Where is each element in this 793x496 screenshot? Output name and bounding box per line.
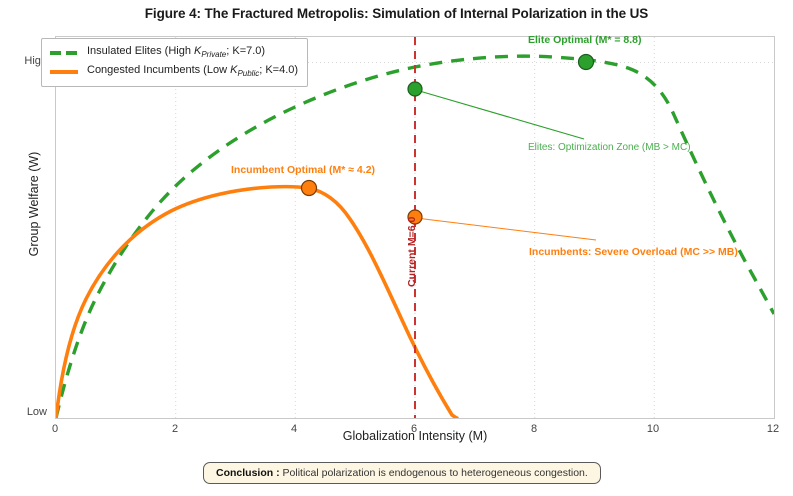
- figure-container: Figure 4: The Fractured Metropolis: Simu…: [0, 0, 793, 496]
- marker-elite-at-current-m: [408, 82, 422, 96]
- legend-swatch-dashed-green-icon: [50, 46, 78, 60]
- conclusion-text: Political polarization is endogenous to …: [283, 467, 588, 479]
- legend-label-insulated-elites: Insulated Elites (High KPrivate; K=7.0): [87, 45, 265, 59]
- legend: Insulated Elites (High KPrivate; K=7.0) …: [41, 38, 308, 87]
- legend-swatch-solid-orange-icon: [50, 65, 78, 79]
- legend-item-insulated-elites[interactable]: Insulated Elites (High KPrivate; K=7.0): [50, 44, 298, 61]
- annotation-incumbent-optimal: Incumbent Optimal (M* ≈ 4.2): [231, 164, 375, 176]
- x-axis-label: Globalization Intensity (M): [55, 429, 775, 443]
- annotation-current-m: Current M=6.0: [406, 217, 418, 287]
- conclusion-label: Conclusion :: [216, 467, 280, 479]
- legend-item-congested-incumbents[interactable]: Congested Incumbents (Low KPublic; K=4.0…: [50, 63, 298, 80]
- conclusion-box: Conclusion : Political polarization is e…: [203, 462, 601, 484]
- annotation-elite-optimal: Elite Optimal (M* = 8.8): [528, 34, 642, 46]
- ytick-low: Low: [3, 406, 47, 418]
- figure-title: Figure 4: The Fractured Metropolis: Simu…: [0, 6, 793, 21]
- marker-elite-optimal: [579, 55, 594, 70]
- leader-line-elite-zone: [416, 90, 584, 139]
- leader-line-incumbent-overload: [416, 218, 596, 240]
- annotation-incumbent-overload: Incumbents: Severe Overload (MC >> MB): [529, 246, 738, 258]
- series-line-congested-incumbents: [56, 187, 457, 418]
- annotation-elite-zone: Elites: Optimization Zone (MB > MC): [528, 142, 691, 153]
- marker-incumbent-optimal: [302, 181, 317, 196]
- legend-label-congested-incumbents: Congested Incumbents (Low KPublic; K=4.0…: [87, 64, 298, 78]
- y-axis-label: Group Welfare (W): [27, 74, 41, 334]
